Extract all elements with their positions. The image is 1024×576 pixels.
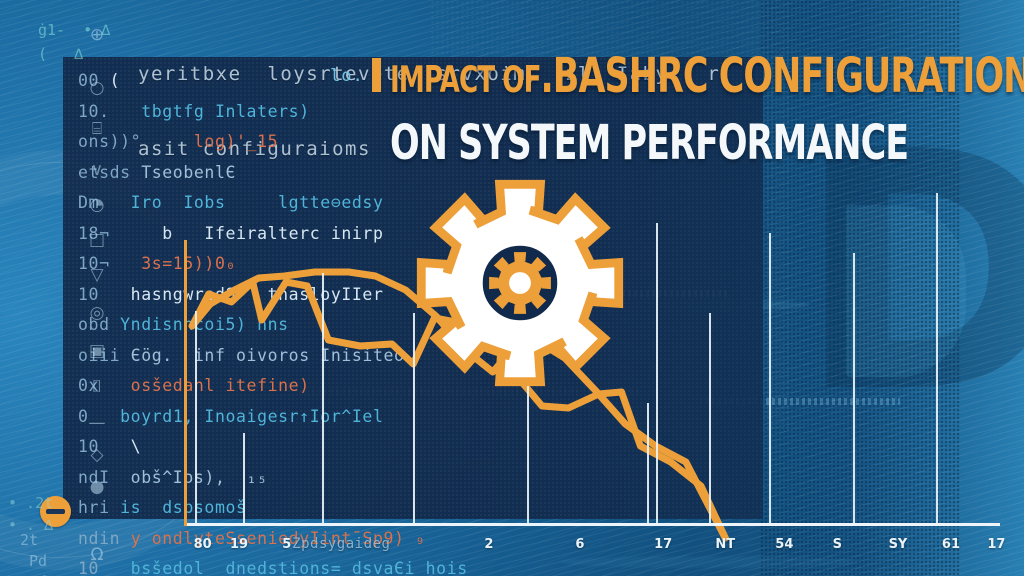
chart-x-tick-label: Zpdsygaideg: [292, 536, 390, 552]
triangle-icon[interactable]: ▽: [84, 262, 110, 288]
gear-inner-hole: [509, 272, 531, 294]
chart-x-tick-label: NT: [715, 537, 735, 552]
title-prefix: Impact of: [390, 60, 541, 102]
title-accent: BASHRC CONFIGURATIONS: [553, 49, 1024, 104]
gear-icon-svg: [415, 178, 625, 388]
box-icon[interactable]: ▣: [84, 338, 110, 364]
chart-x-tick-label: 54: [775, 537, 793, 552]
chart-x-tick-label: 6: [575, 537, 584, 552]
chart-x-tick-label: 17: [987, 537, 1005, 552]
circle-icon[interactable]: ○: [84, 75, 110, 101]
infographic-canvas: D ġ1- • ∆ ( ∆ yeritbxe loysrtevete srvxo…: [0, 0, 1024, 576]
chart-x-tick-label: 17: [654, 537, 672, 552]
globe-icon[interactable]: ⊕: [84, 22, 110, 48]
gear-icon: [415, 178, 625, 388]
dot-icon[interactable]: ●: [84, 474, 110, 500]
chart-x-tick-label: 19: [230, 537, 248, 552]
code-line-text: tbgtfg Inlaters): [120, 102, 310, 121]
chart-gridline: [322, 273, 324, 523]
ring-icon[interactable]: ◎: [84, 300, 110, 326]
chart-x-tick-label: 80: [194, 537, 212, 552]
bottom-left-text: • .2t • . ∆: [8, 492, 53, 536]
chart-x-tick-label: 61: [942, 537, 960, 552]
chart-gridline: [656, 223, 658, 523]
chart-gridline: [243, 433, 245, 523]
chart-y-axis: [184, 240, 187, 526]
chart-gridline: [709, 313, 711, 523]
chart-x-tick-label: SY: [889, 537, 908, 552]
chart-gridline: [647, 403, 649, 523]
tag-icon[interactable]: ◔: [84, 192, 110, 218]
page-title: Impact of.BASHRC CONFIGURATIONS ON SYSTE…: [390, 49, 1010, 158]
chart-x-tick-label: 5: [282, 537, 291, 552]
title-dot: .: [541, 49, 553, 104]
code-line-text: TseobenlЄ: [141, 163, 236, 182]
title-marker-text: lo.: [330, 66, 364, 86]
code-line-text: log)'_15: [152, 132, 278, 151]
chart-x-tick-label: S: [833, 537, 842, 552]
chart-gridline: [195, 311, 197, 523]
icon-rail[interactable]: ⊕○⌸∨◔□▽◎▣⌷—◇●Ω: [84, 22, 118, 574]
diamond-icon[interactable]: ◇: [84, 442, 110, 468]
dash-icon[interactable]: —: [84, 410, 110, 436]
chart-gridline: [936, 193, 938, 523]
grid-icon[interactable]: ⌷: [84, 374, 110, 400]
omega-icon[interactable]: Ω: [84, 542, 110, 568]
title-line-2: ON SYSTEM PERFORMANCE: [390, 116, 991, 172]
chart-gridline: [769, 233, 771, 523]
square-icon[interactable]: □: [84, 227, 110, 253]
server-icon[interactable]: ⌸: [84, 116, 110, 142]
chart-x-axis: [184, 523, 1000, 526]
title-line-1: Impact of.BASHRC CONFIGURATIONS: [390, 49, 991, 109]
rail-footer-text: 2t Pd Pf: [20, 530, 47, 576]
chart-gridline: [853, 253, 855, 523]
chevron-down-icon[interactable]: ∨: [84, 157, 110, 183]
title-accent-tick: [372, 58, 381, 92]
chart-x-tick-label: 2: [484, 537, 493, 552]
